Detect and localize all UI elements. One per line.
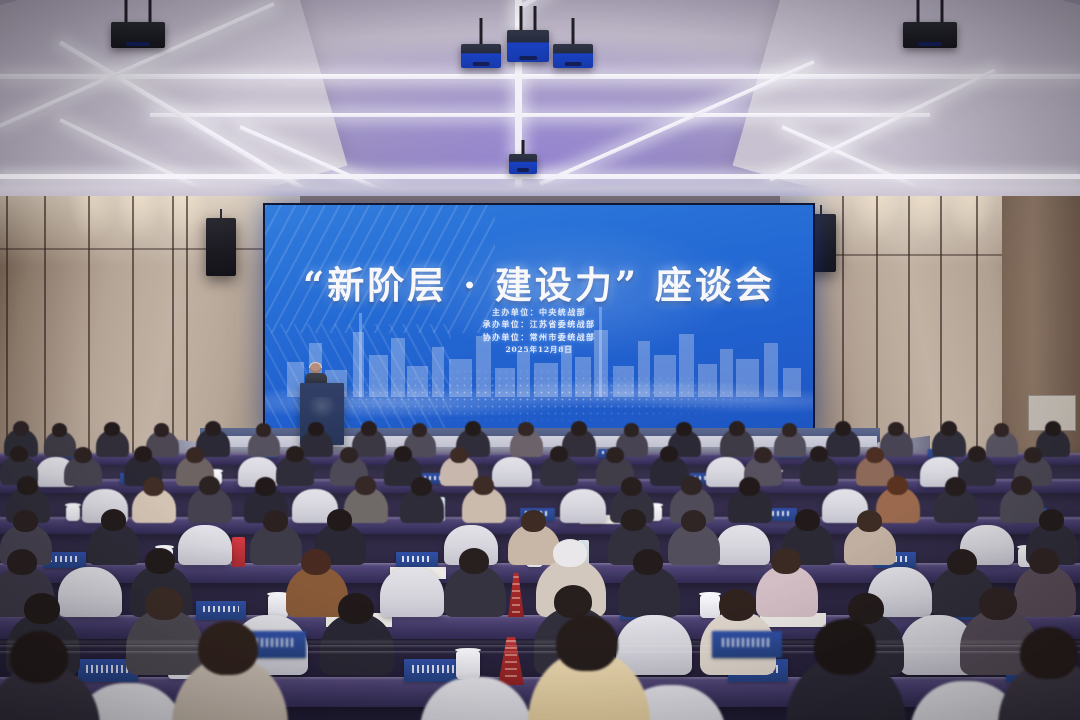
- audience-head: [143, 477, 164, 496]
- audience-head: [473, 476, 494, 495]
- audience-head: [263, 510, 288, 532]
- audience-head: [888, 422, 904, 436]
- ceiling-projector-center-left: [460, 18, 502, 68]
- audience-head: [301, 549, 331, 575]
- audience-head: [681, 476, 702, 495]
- audience-head: [13, 421, 29, 436]
- audience-chair: [492, 457, 532, 487]
- audience-head: [994, 423, 1009, 437]
- audience-head: [74, 447, 92, 463]
- screen-date: 2025年12月8日: [265, 344, 813, 356]
- audience-head: [676, 422, 692, 436]
- audience-head: [518, 422, 534, 436]
- audience-head: [412, 423, 427, 437]
- audience-chair: [560, 489, 606, 523]
- audience-head: [327, 509, 352, 531]
- audience-head: [10, 631, 68, 683]
- audience-head: [450, 447, 468, 463]
- audience-head: [857, 510, 882, 532]
- audience-head: [7, 549, 37, 575]
- name-placard: [712, 631, 782, 658]
- lidded-teacup: [456, 651, 480, 679]
- projector-lens: [918, 42, 942, 46]
- audience-head: [308, 422, 324, 436]
- audience-head: [13, 510, 38, 532]
- thermos-flask: [232, 537, 245, 567]
- audience-head: [754, 447, 772, 463]
- screen-particle-dots: [265, 361, 813, 430]
- line-array-speaker-left: [206, 218, 236, 276]
- ceiling-projector-center: [506, 6, 550, 62]
- projector-lens: [519, 56, 537, 60]
- audience-head: [340, 447, 358, 463]
- audience-head: [459, 548, 489, 574]
- audience-head: [394, 446, 412, 462]
- ceiling-projector-lower-center: [508, 140, 538, 174]
- audience-head: [866, 447, 884, 463]
- ceiling-projector-far-left: [108, 0, 168, 48]
- audience-head: [795, 509, 820, 531]
- projector-lens: [565, 62, 582, 66]
- screen-headline: “新阶层 · 建设力” 座谈会: [265, 255, 813, 309]
- audience-head: [1029, 548, 1059, 574]
- ceiling-projector-center-right: [552, 18, 594, 68]
- audience-head: [556, 615, 618, 671]
- audience-head: [621, 477, 642, 496]
- audience-head: [338, 593, 374, 624]
- audience-head: [10, 446, 28, 462]
- audience-head: [771, 548, 801, 574]
- audience-head: [255, 477, 276, 496]
- audience-head: [134, 446, 152, 462]
- audience-head: [104, 422, 120, 436]
- audience-head: [550, 446, 568, 462]
- led-screen: “新阶层 · 建设力” 座谈会 主办单位：中央统战部 承办单位：江苏省委统战部 …: [265, 205, 813, 434]
- audience-head: [782, 423, 797, 437]
- lidded-teacup: [700, 595, 720, 618]
- audience-head: [606, 447, 624, 463]
- projector-lens: [473, 62, 490, 66]
- audience-head: [199, 476, 220, 495]
- ceiling-cove-light: [0, 174, 1080, 179]
- audience-head: [1045, 421, 1061, 436]
- audience-head: [521, 510, 546, 532]
- audience-head: [101, 509, 126, 531]
- audience-chair: [178, 525, 232, 565]
- audience-head: [621, 509, 646, 531]
- wall-panel-seam: [132, 196, 134, 486]
- audience-floor: [0, 455, 1080, 720]
- audience-head: [719, 589, 756, 621]
- audience-head: [411, 477, 432, 496]
- audience-head: [941, 421, 957, 436]
- audience-chair: [716, 525, 770, 565]
- audience-head: [465, 421, 481, 436]
- name-placard: [196, 601, 246, 620]
- audience-chair: [58, 567, 122, 617]
- audience-head: [1024, 447, 1042, 463]
- lidded-teacup: [66, 506, 80, 521]
- audience-chair: [380, 567, 444, 617]
- audience-head: [198, 621, 258, 675]
- audience-head: [205, 421, 221, 436]
- audience-head: [145, 587, 183, 620]
- audience-head: [145, 548, 175, 574]
- conference-hall-photo: “新阶层 · 建设力” 座谈会 主办单位：中央统战部 承办单位：江苏省委统战部 …: [0, 0, 1080, 720]
- screen-subtitle-host: 主办单位：中央统战部: [265, 306, 813, 318]
- audience-head: [24, 593, 60, 624]
- audience-head: [571, 421, 587, 436]
- audience-head: [355, 476, 376, 495]
- projector-lens: [126, 42, 150, 46]
- audience-head: [945, 477, 966, 496]
- name-placard: [396, 552, 438, 568]
- audience-head: [968, 446, 986, 462]
- screen-subtitle-organizer: 承办单位：江苏省委统战部: [265, 318, 813, 330]
- audience-head: [553, 539, 587, 567]
- audience-head: [835, 421, 851, 436]
- audience-head: [681, 510, 706, 532]
- wall-panel-seam: [976, 196, 978, 486]
- audience-head: [887, 476, 908, 495]
- audience-head: [154, 423, 169, 437]
- audience-head: [1020, 627, 1078, 679]
- audience-head: [739, 477, 760, 496]
- audience-head: [814, 619, 876, 675]
- audience-head: [186, 447, 204, 463]
- audience-head: [624, 423, 639, 437]
- projector-lens: [517, 168, 529, 172]
- wall-panel-seam: [88, 196, 90, 486]
- audience-head: [554, 585, 592, 618]
- audience-head: [1039, 509, 1064, 531]
- ceiling: [0, 0, 1080, 205]
- audience-head: [286, 446, 304, 462]
- wall-right-downlight-pool: [936, 196, 1006, 260]
- led-screen-frame: “新阶层 · 建设力” 座谈会 主办单位：中央统战部 承办单位：江苏省委统战部 …: [263, 203, 815, 436]
- audience-head: [660, 446, 678, 462]
- audience-head: [979, 587, 1017, 620]
- audience-head: [256, 423, 271, 437]
- screen-subtitle-block: 主办单位：中央统战部 承办单位：江苏省委统战部 协办单位：常州市委统战部 202…: [265, 306, 813, 356]
- audience-head: [1011, 476, 1032, 495]
- audience-head: [52, 423, 67, 437]
- audience-head: [17, 476, 38, 495]
- audience-head: [810, 446, 828, 462]
- podium-emblem: [308, 397, 336, 419]
- screen-subtitle-coorganizer: 协办单位：常州市委统战部: [265, 331, 813, 343]
- audience-head: [361, 421, 377, 436]
- wall-panel-seam-horizontal: [0, 248, 300, 250]
- ceiling-projector-far-right: [900, 0, 960, 48]
- audience-head: [729, 421, 745, 436]
- audience-head: [947, 549, 977, 575]
- audience-head: [633, 549, 663, 575]
